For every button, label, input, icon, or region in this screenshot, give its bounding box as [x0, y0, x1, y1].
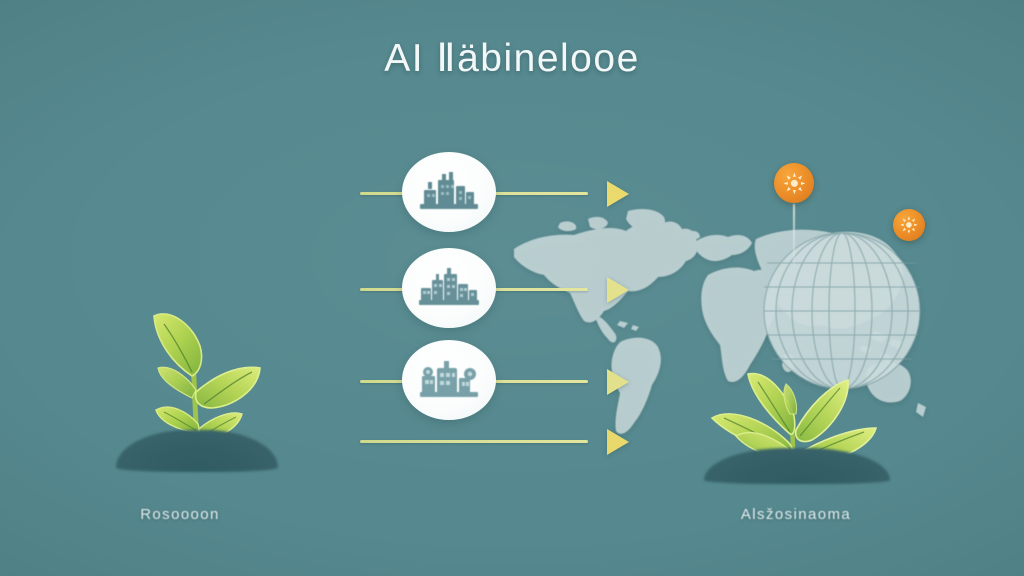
seedling-large: [690, 350, 900, 490]
badge-stem-1: [793, 204, 795, 268]
flow-chip-2[interactable]: [402, 248, 496, 328]
factory-cluster-icon: [418, 170, 480, 214]
industry-skyline-icon: [418, 266, 480, 310]
illustration-canvas: AI Ⅱäbinelooe: [0, 0, 1024, 576]
arrow-head-3: [607, 369, 629, 395]
flow-chip-3[interactable]: [402, 340, 496, 420]
machinery-icon: [418, 358, 480, 402]
arrow-head-2: [607, 277, 629, 303]
flow-row-4: [360, 440, 615, 444]
badge-sun-2[interactable]: [893, 209, 925, 241]
sun-burst-icon: [782, 171, 807, 196]
sun-burst-icon: [899, 215, 919, 235]
arrow-head-1: [607, 181, 629, 207]
seedling-small: [112, 280, 282, 480]
caption-left: Rosoooon: [70, 506, 290, 523]
arrow-line-4: [360, 440, 588, 443]
flow-chip-1[interactable]: [402, 152, 496, 232]
badge-sun-1[interactable]: [774, 163, 814, 203]
caption-right: Alsžosinaoma: [686, 506, 906, 523]
arrow-head-4: [607, 429, 629, 455]
page-title: AI Ⅱäbinelooe: [0, 36, 1024, 81]
